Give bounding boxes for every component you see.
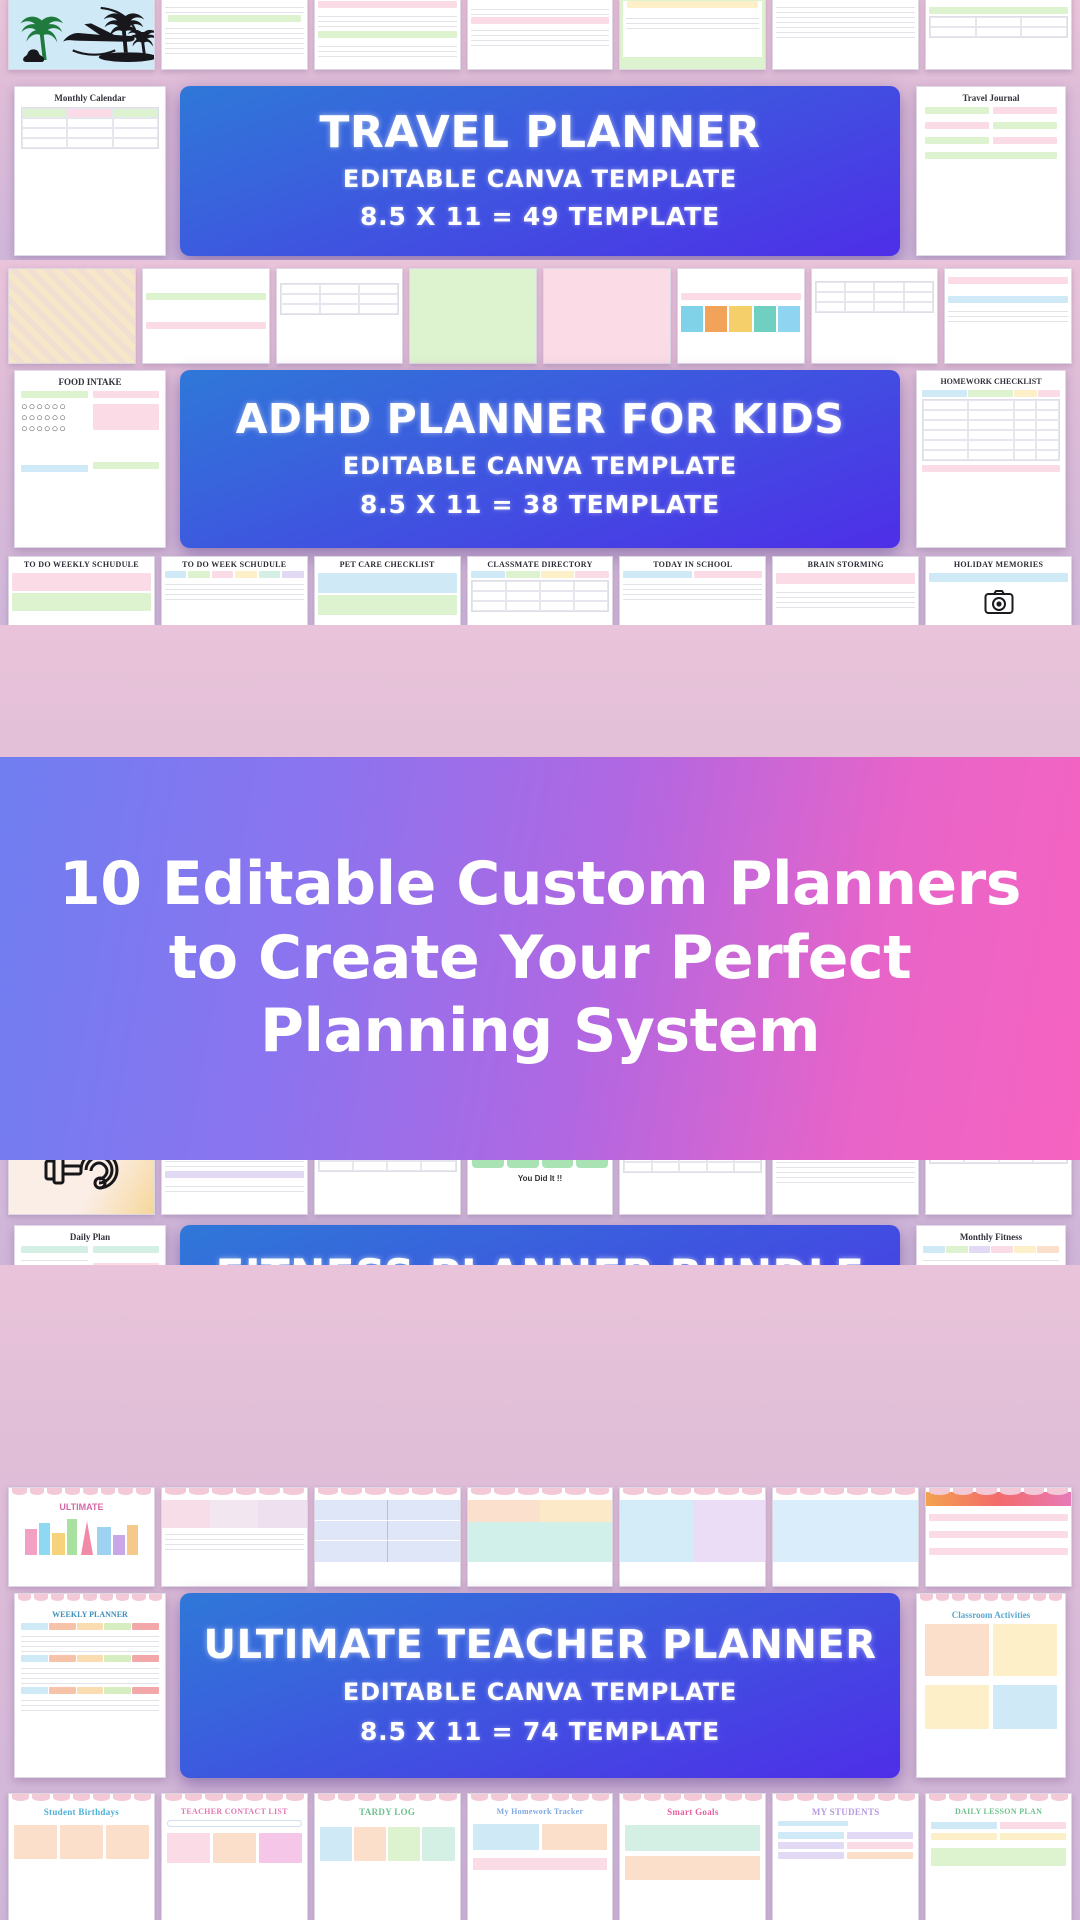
travel-right-page-journal[interactable]: Travel Journal [916,86,1066,256]
promo-title-fitness: FITNESS PLANNER BUNDLE [216,1254,865,1265]
thumbnail-label: PET CARE CHECKLIST [315,557,460,571]
promo-subtitle-adhd: EDITABLE CANVA TEMPLATE [343,452,737,480]
thumbnail-travel-itinerary[interactable] [161,0,308,70]
promo-card-teacher-planner[interactable]: ULTIMATE TEACHER PLANNER EDITABLE CANVA … [180,1593,900,1778]
spiral-binding-icon [468,1794,613,1802]
thumbnail-classmate-directory[interactable]: CLASSMATE DIRECTORY [467,556,614,625]
promo-title-teacher: ULTIMATE TEACHER PLANNER [204,1625,877,1666]
adhd-right-page-homework[interactable]: HOMEWORK CHECKLIST [916,370,1066,548]
school-supplies-icon [9,1512,154,1560]
thumbnail-todo-weekly-schudule[interactable]: TO DO WEEKLY SCHUDULE [8,556,155,625]
thumbnail-smart-goals[interactable]: Smart Goals [619,1793,766,1920]
thumbnail-pet-care-checklist[interactable]: PET CARE CHECKLIST [314,556,461,625]
thumbnail-travel-flight-log[interactable] [772,0,919,70]
thumbnail-strip-teacher-bottom: Student Birthdays TEACHER CONTACT LIST [0,1793,1080,1920]
thumbnail-travel-notes[interactable] [619,0,766,70]
travel-right-page-title: Travel Journal [917,87,1065,107]
thumbnail-teacher-class-list[interactable] [925,1487,1072,1587]
spiral-binding-icon [315,1794,460,1802]
pin-title-overlay: 10 Editable Custom Planners to Create Yo… [0,757,1080,1160]
spiral-binding-icon [9,1488,154,1496]
thumbnail-strip-adhd-bottom: TO DO WEEKLY SCHUDULE TO DO WEEK SCHUDUL… [0,556,1080,625]
promo-size-adhd: 8.5 X 11 = 38 TEMPLATE [360,490,720,519]
thumbnail-adhd-feelings[interactable] [142,268,270,364]
spiral-binding-icon [620,1794,765,1802]
pinterest-pin-image: Monthly Calendar TRAVEL PLANNER EDITABLE… [0,0,1080,1920]
spiral-binding-icon [620,1488,765,1496]
spiral-binding-icon [773,1794,918,1802]
spiral-binding-icon [162,1794,307,1802]
thumbnail-travel-checklist[interactable] [925,0,1072,70]
thumbnail-label: HOLIDAY MEMORIES [926,557,1071,571]
teacher-left-page-weekly-planner[interactable]: WEEKLY PLANNER [14,1593,166,1778]
thumbnail-teacher-contact-list[interactable]: TEACHER CONTACT LIST [161,1793,308,1920]
thumbnail-daily-lesson-plan[interactable]: DAILY LESSON PLAN [925,1793,1072,1920]
thumbnail-label: MY STUDENTS [773,1804,918,1819]
thumbnail-label: TO DO WEEKLY SCHUDULE [9,557,154,571]
thumbnail-label: TEACHER CONTACT LIST [162,1804,307,1818]
thumbnail-teacher-attendance[interactable] [314,1487,461,1587]
thumbnail-tardy-log[interactable]: TARDY LOG [314,1793,461,1920]
spiral-binding-icon [315,1488,460,1496]
product-block-travel-planner[interactable]: Monthly Calendar TRAVEL PLANNER EDITABLE… [0,0,1080,260]
promo-subtitle-teacher: EDITABLE CANVA TEMPLATE [343,1678,737,1706]
thumbnail-label: Student Birthdays [9,1804,154,1819]
thumbnail-adhd-plan-sheet[interactable] [944,268,1072,364]
fitness-left-page-daily-plan[interactable]: Daily Plan [14,1225,166,1265]
thumbnail-strip-teacher-top: ULTIMATE [0,1487,1080,1587]
thumbnail-label: TARDY LOG [315,1804,460,1819]
spiral-binding-icon [926,1794,1071,1802]
thumbnail-travel-budget[interactable] [467,0,614,70]
thumbnail-my-homework-tracker[interactable]: My Homework Tracker [467,1793,614,1920]
camera-icon [984,589,1014,615]
promo-subtitle-travel: EDITABLE CANVA TEMPLATE [343,165,737,193]
thumbnail-label: DAILY LESSON PLAN [926,1804,1071,1818]
thumbnail-travel-packing-list[interactable] [314,0,461,70]
palm-tree-airplane-icon [9,0,154,69]
spiral-binding-icon [9,1794,154,1802]
thumbnail-teacher-seating-chart[interactable] [619,1487,766,1587]
adhd-left-page-food-intake[interactable]: FOOD INTAKE ○○○○○○○○○○○○○○○○○○ [14,370,166,548]
fitness-right-page-monthly[interactable]: Monthly Fitness [916,1225,1066,1265]
thumbnail-label: My Homework Tracker [468,1804,613,1818]
spiral-binding-icon [15,1594,165,1602]
thumbnail-label: BRAIN STORMING [773,557,918,571]
fitness-right-page-title: Monthly Fitness [917,1226,1065,1246]
thumbnail-label: CLASSMATE DIRECTORY [468,557,613,571]
thumbnail-adhd-colour-page[interactable] [409,268,537,364]
thumbnail-travel-cover[interactable] [8,0,155,70]
spiral-binding-icon [162,1488,307,1496]
thumbnail-teacher-gradebook[interactable] [772,1487,919,1587]
promo-card-travel-planner[interactable]: TRAVEL PLANNER EDITABLE CANVA TEMPLATE 8… [180,86,900,256]
fitness-left-page-title: Daily Plan [15,1226,165,1246]
thumbnail-label: Smart Goals [620,1804,765,1819]
promo-size-teacher: 8.5 X 11 = 74 TEMPLATE [360,1717,720,1746]
thumbnail-adhd-weekly-grid[interactable] [276,268,404,364]
spiral-binding-icon [926,1488,1071,1496]
thumbnail-adhd-mood-page[interactable] [543,268,671,364]
adhd-left-page-title: FOOD INTAKE [15,371,165,391]
thumbnail-teacher-lesson-page[interactable] [161,1487,308,1587]
spiral-binding-icon [773,1488,918,1496]
teacher-right-page-title: Classroom Activities [917,1604,1065,1624]
thumbnail-adhd-energy-chart[interactable] [677,268,805,364]
adhd-right-page-title: HOMEWORK CHECKLIST [917,371,1065,390]
promo-size-travel: 8.5 X 11 = 49 TEMPLATE [360,202,720,231]
thumbnail-student-birthdays[interactable]: Student Birthdays [8,1793,155,1920]
thumbnail-brain-storming[interactable]: BRAIN STORMING [772,556,919,625]
promo-title-adhd: ADHD PLANNER FOR KIDS [236,399,845,441]
thumbnail-adhd-cover-pattern[interactable] [8,268,136,364]
thumbnail-teacher-schedule[interactable] [467,1487,614,1587]
travel-left-page-monthly-calendar[interactable]: Monthly Calendar [14,86,166,256]
spiral-binding-icon [917,1594,1065,1602]
teacher-left-page-title: WEEKLY PLANNER [15,1604,165,1623]
thumbnail-teacher-cover[interactable]: ULTIMATE [8,1487,155,1587]
product-block-adhd-planner[interactable]: FOOD INTAKE ○○○○○○○○○○○○○○○○○○ ADHD PLAN… [0,260,1080,625]
thumbnail-holiday-memories[interactable]: HOLIDAY MEMORIES [925,556,1072,625]
thumbnail-label: You Did It !! [468,1168,613,1183]
promo-card-fitness-planner[interactable]: FITNESS PLANNER BUNDLE EDITABLE CANVA TE… [180,1225,900,1265]
thumbnail-strip-adhd-top [0,268,1080,364]
travel-left-page-title: Monthly Calendar [15,87,165,107]
thumbnail-label: TO DO WEEK SCHUDULE [162,557,307,571]
page-title: 10 Editable Custom Planners to Create Yo… [35,848,1045,1069]
thumbnail-my-students[interactable]: MY STUDENTS [772,1793,919,1920]
thumbnail-label: TODAY IN SCHOOL [620,557,765,571]
spiral-binding-icon [468,1488,613,1496]
thumbnail-adhd-habit-grid[interactable] [811,268,939,364]
thumbnail-todo-week-schudule[interactable]: TO DO WEEK SCHUDULE [161,556,308,625]
teacher-right-page-classroom[interactable]: Classroom Activities [916,1593,1066,1778]
promo-card-adhd-planner[interactable]: ADHD PLANNER FOR KIDS EDITABLE CANVA TEM… [180,370,900,548]
promo-title-travel: TRAVEL PLANNER [319,111,760,156]
thumbnail-today-in-school[interactable]: TODAY IN SCHOOL [619,556,766,625]
thumbnail-strip-travel-top [0,0,1080,70]
product-block-teacher-planner[interactable]: ULTIMATE [0,1265,1080,1920]
